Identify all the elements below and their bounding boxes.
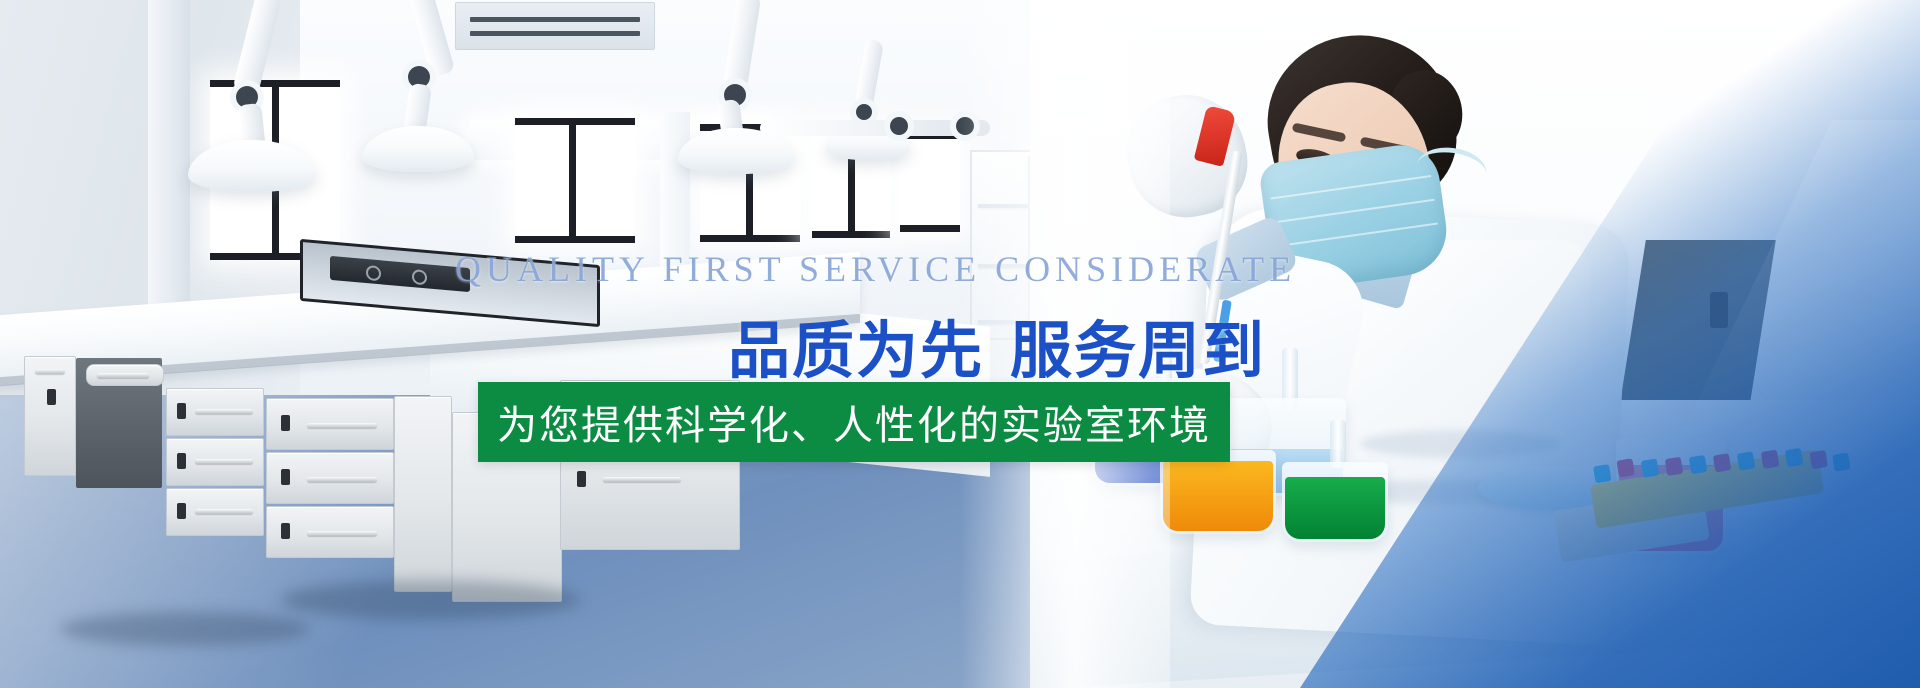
banner-subtitle-text: 为您提供科学化、人性化的实验室环境	[497, 393, 1211, 451]
headline-part-two: 服务周到	[1010, 314, 1266, 387]
hero-banner: QUALITY FIRST SERVICE CONSIDERATE 品质为先服务…	[0, 0, 1920, 688]
banner-eyebrow-text: QUALITY FIRST SERVICE CONSIDERATE	[455, 248, 1296, 290]
headline-part-one: 品质为先	[728, 314, 984, 387]
banner-subtitle-bar: 为您提供科学化、人性化的实验室环境	[478, 382, 1230, 462]
banner-headline: 品质为先服务周到	[728, 300, 1266, 390]
banner-copy: QUALITY FIRST SERVICE CONSIDERATE 品质为先服务…	[0, 0, 1920, 688]
